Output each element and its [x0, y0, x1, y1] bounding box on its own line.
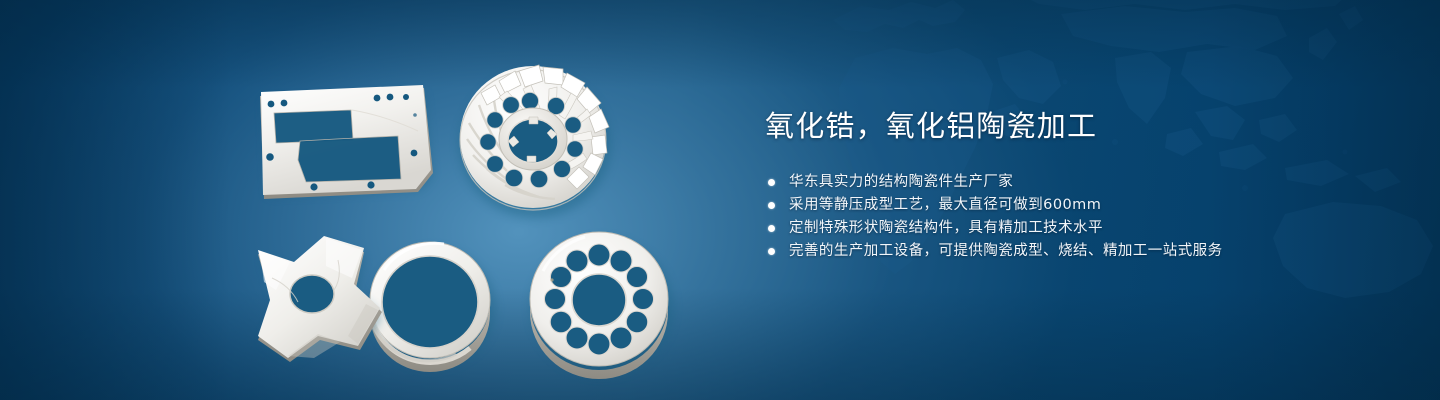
bullet-item: 采用等静压成型工艺，最大直径可做到600mm — [765, 194, 1405, 217]
bullet-text: 华东具实力的结构陶瓷件生产厂家 — [789, 174, 1013, 190]
bullet-dot-icon — [768, 225, 775, 232]
bullet-text: 完善的生产加工设备，可提供陶瓷成型、烧结、精加工一站式服务 — [789, 243, 1223, 259]
bullet-text: 采用等静压成型工艺，最大直径可做到600mm — [789, 197, 1101, 213]
bullet-dot-icon — [768, 179, 775, 186]
bullet-item: 华东具实力的结构陶瓷件生产厂家 — [765, 171, 1405, 194]
bullet-dot-icon — [768, 202, 775, 209]
bullet-item: 定制特殊形状陶瓷结构件，具有精加工技术水平 — [765, 217, 1405, 240]
banner-headline: 氧化锆，氧化铝陶瓷加工 — [765, 108, 1405, 145]
bullet-item: 完善的生产加工设备，可提供陶瓷成型、烧结、精加工一站式服务 — [765, 240, 1405, 263]
banner-copy: 氧化锆，氧化铝陶瓷加工 华东具实力的结构陶瓷件生产厂家 采用等静压成型工艺，最大… — [765, 108, 1405, 263]
bullet-text: 定制特殊形状陶瓷结构件，具有精加工技术水平 — [789, 220, 1103, 236]
banner-bullet-list: 华东具实力的结构陶瓷件生产厂家 采用等静压成型工艺，最大直径可做到600mm 定… — [765, 171, 1405, 263]
ceramic-products-banner: 氧化锆，氧化铝陶瓷加工 华东具实力的结构陶瓷件生产厂家 采用等静压成型工艺，最大… — [0, 0, 1440, 400]
bullet-dot-icon — [768, 248, 775, 255]
